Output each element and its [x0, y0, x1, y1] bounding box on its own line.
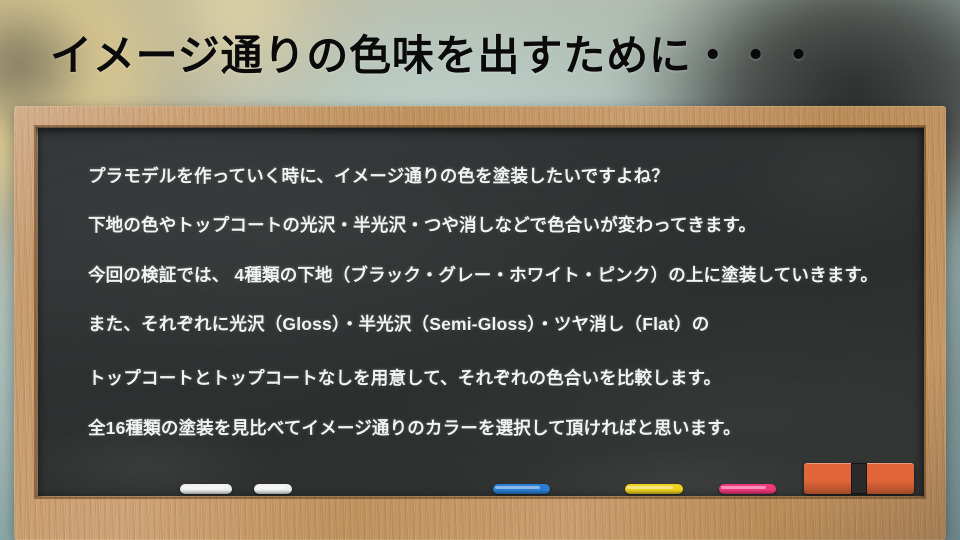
chalk-blue: [493, 484, 550, 494]
board-paragraph-1: プラモデルを作っていく時に、イメージ通りの色を塗装したいですよね？: [88, 162, 900, 190]
chalk-white-2: [254, 484, 292, 494]
slide-title: イメージ通りの色味を出すために・・・: [50, 22, 820, 83]
board-paragraph-3: 今回の検証では、 4種類の下地（ブラック・グレー・ホワイト・ピンク）の上に塗装し…: [88, 261, 900, 289]
blackboard-wooden-frame: プラモデルを作っていく時に、イメージ通りの色を塗装したいですよね？ 下地の色やト…: [14, 106, 946, 540]
board-paragraph-5: トップコートとトップコートなしを用意して、それぞれの色合いを比較します。: [88, 364, 900, 392]
chalk-white-1: [180, 484, 232, 494]
board-paragraph-4: また、それぞれに光沢（Gloss）・半光沢（Semi-Gloss）・ツヤ消し（F…: [88, 307, 900, 341]
chalk-yellow: [625, 484, 683, 494]
blackboard-surface: プラモデルを作っていく時に、イメージ通りの色を塗装したいですよね？ 下地の色やト…: [38, 128, 924, 496]
chalk-ledge-items: [38, 450, 924, 496]
eraser-center-band: [851, 463, 867, 494]
board-eraser: [804, 463, 914, 494]
board-paragraph-6: 全16種類の塗装を見比べてイメージ通りのカラーを選択して頂ければと思います。: [88, 414, 900, 442]
board-paragraph-2: 下地の色やトップコートの光沢・半光沢・つや消しなどで色合いが変わってきます。: [88, 211, 900, 239]
chalk-pink: [719, 484, 776, 494]
blackboard-text-block: プラモデルを作っていく時に、イメージ通りの色を塗装したいですよね？ 下地の色やト…: [88, 162, 900, 442]
